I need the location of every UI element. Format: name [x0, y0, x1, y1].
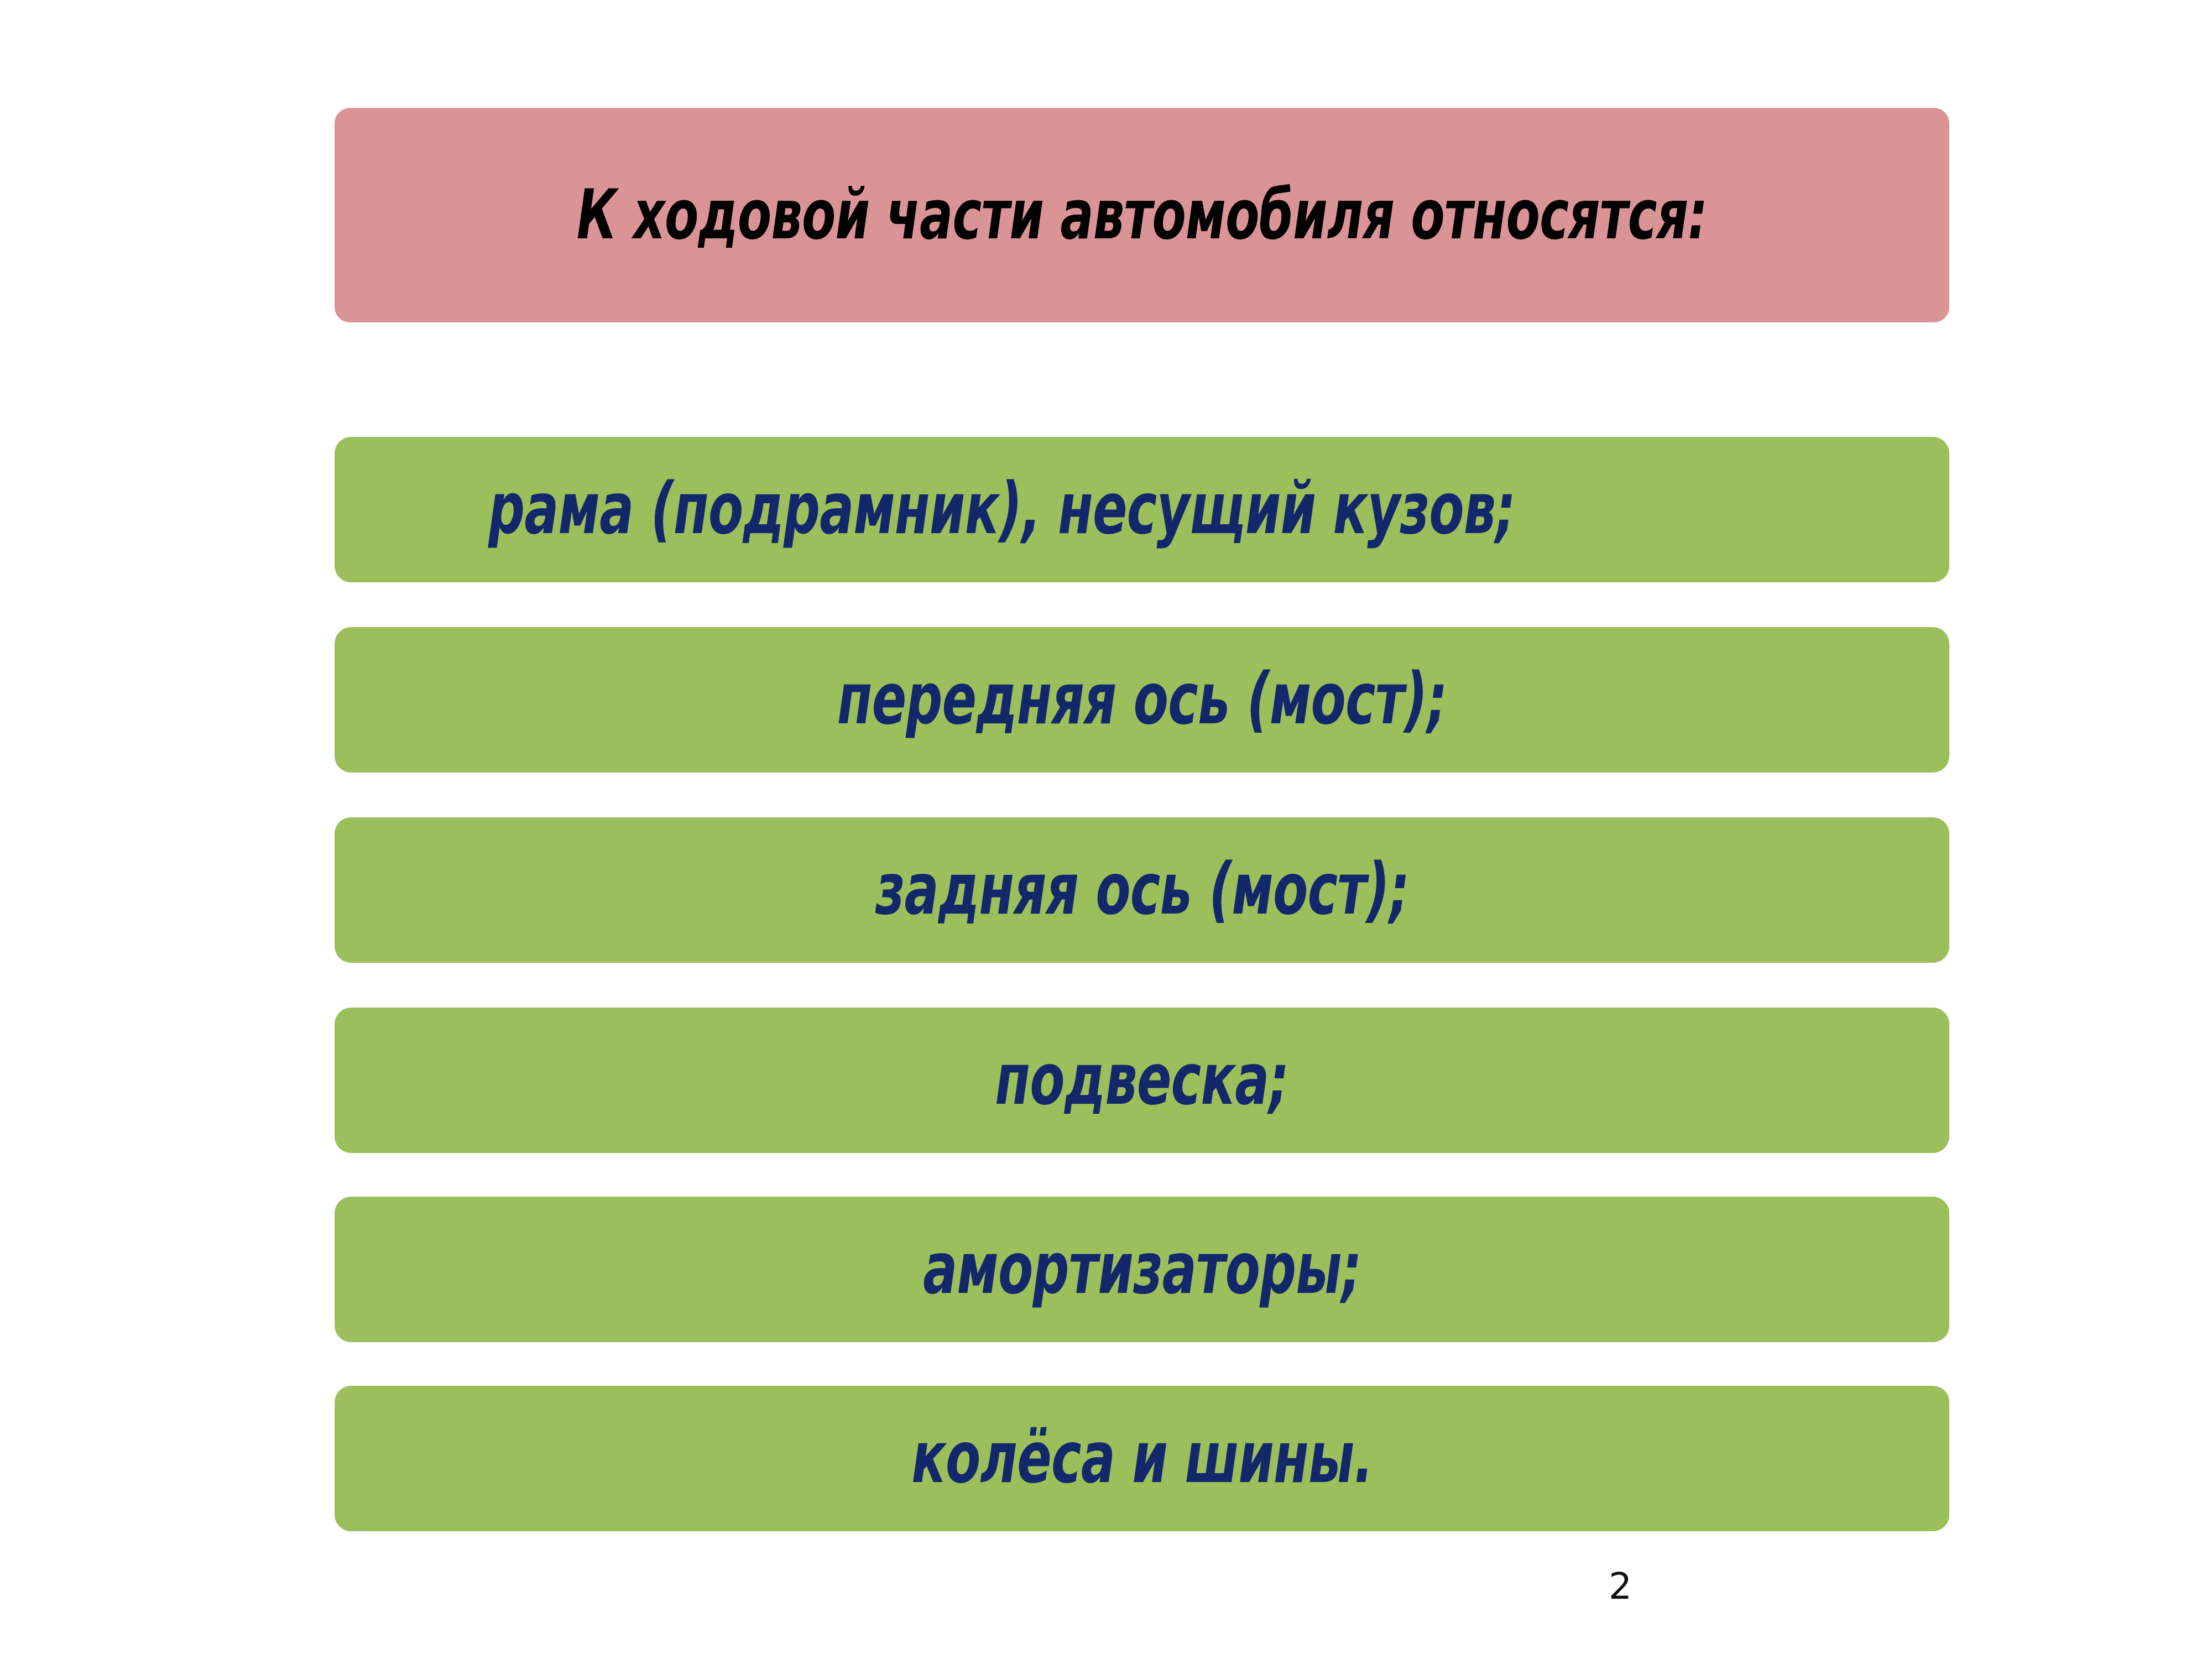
page-number: 2 — [1587, 1565, 1653, 1608]
list-item-bar-3: задняя ось (мост); — [335, 817, 1949, 963]
list-item-bar-1: рама (подрамник), несущий кузов; — [335, 437, 1949, 582]
list-item-bar-5: амортизаторы; — [335, 1197, 1949, 1342]
list-item-label: подвеска; — [995, 1043, 1288, 1117]
slide-title-text: К ходовой части автомобиля относятся: — [514, 171, 1770, 259]
list-item-bar-4: подвеска; — [335, 1008, 1949, 1153]
list-item-label: передняя ось (мост); — [837, 662, 1447, 737]
slide-canvas: К ходовой части автомобиля относятся: ра… — [0, 0, 2212, 1659]
list-item-label: рама (подрамник), несущий кузов; — [488, 472, 1515, 546]
list-item-label: задняя ось (мост); — [875, 853, 1409, 927]
list-item-bar-2: передняя ось (мост); — [335, 627, 1949, 773]
list-item-label: амортизаторы; — [923, 1232, 1361, 1306]
slide-title-banner: К ходовой части автомобиля относятся: — [335, 108, 1949, 322]
list-item-label: колёса и шины. — [911, 1421, 1373, 1495]
list-item-bar-6: колёса и шины. — [335, 1386, 1949, 1531]
